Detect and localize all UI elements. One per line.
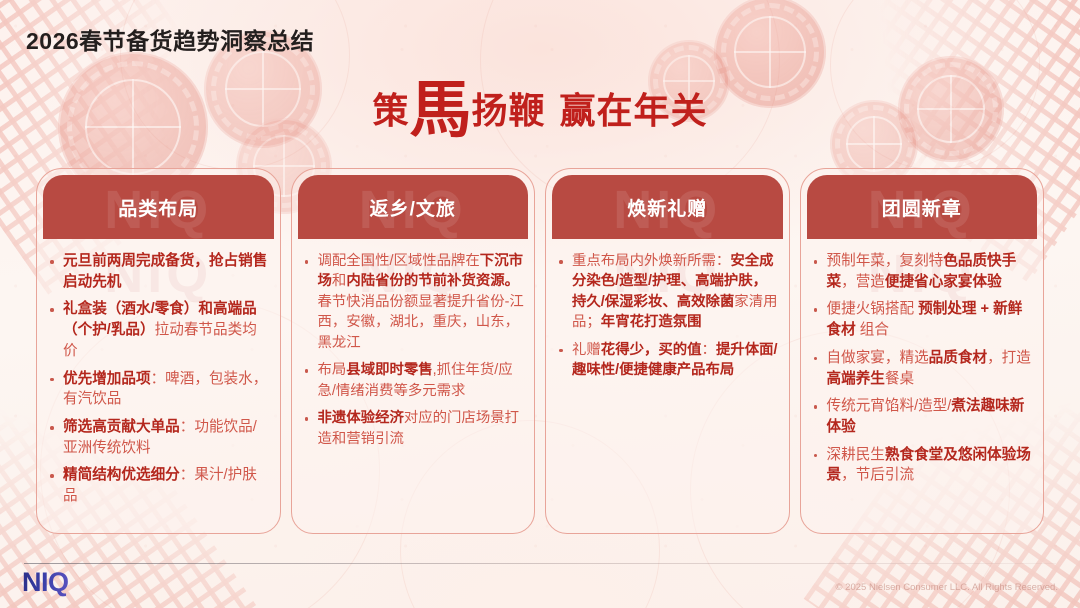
card-body: NIQ 重点布局内外焕新所需：安全成分染色/造型/护理、高端护肤，持久/保湿彩妆…	[546, 239, 789, 533]
card-title: 团圆新章	[882, 194, 962, 221]
bullet-text: 餐桌	[885, 371, 914, 387]
card-fanxiang-wenlv[interactable]: NIQ 返乡/文旅 NIQ 调配全国性/区域性品牌在下沉市场和内陆省份的节前补货…	[291, 168, 536, 534]
card-title: 焕新礼赠	[627, 194, 707, 221]
card-body: NIQ 预制年菜，复刻特色品质快手菜，营造便捷省心家宴体验便捷火锅搭配 预制处理…	[801, 239, 1044, 533]
card-pinlei-buju[interactable]: NIQ 品类布局 NIQ 元旦前两周完成备货，抢占销售启动先机礼盒装（酒水/零食…	[36, 168, 281, 534]
bullet-text: ，节后引流	[841, 467, 914, 483]
bullet-emphasis: 筛选高贡献大单品	[63, 419, 180, 435]
bullet-emphasis: 高端养生	[827, 371, 885, 387]
card-huanxin-lizeng[interactable]: NIQ 焕新礼赠 NIQ 重点布局内外焕新所需：安全成分染色/造型/护理、高端护…	[545, 168, 790, 534]
card-header: NIQ 返乡/文旅	[298, 175, 529, 239]
niq-logo: NIQ	[22, 567, 69, 598]
bullet-text: 礼赠	[572, 342, 601, 358]
headline-big-char: 馬	[409, 76, 471, 145]
card-header: NIQ 团圆新章	[807, 175, 1038, 239]
bullet-text: 深耕民生	[827, 447, 885, 463]
bullet-emphasis: 优先增加品项	[63, 371, 151, 387]
bullet-text: 春节快消品份额显著提升省份-江西，安徽，湖北，重庆，山东，黑龙江	[318, 294, 524, 351]
card-body: NIQ 元旦前两周完成备货，抢占销售启动先机礼盒装（酒水/零食）和高端品（个护/…	[37, 239, 280, 533]
bullet-list: 预制年菜，复刻特色品质快手菜，营造便捷省心家宴体验便捷火锅搭配 预制处理 + 新…	[809, 251, 1034, 486]
bullet-list: 重点布局内外焕新所需：安全成分染色/造型/护理、高端护肤，持久/保湿彩妆、高效除…	[554, 251, 779, 381]
page-title: 2026春节备货趋势洞察总结	[26, 22, 314, 56]
bullet-text: 调配全国性/区域性品牌在	[318, 253, 480, 269]
bullet-emphasis: 便捷省心家宴体验	[885, 274, 1002, 290]
card-header: NIQ 焕新礼赠	[552, 175, 783, 239]
bullet-text: 组合	[856, 322, 889, 338]
bullet-emphasis: 品质食材	[929, 350, 987, 366]
headline: 策馬扬鞭赢在年关	[0, 72, 1080, 134]
bullet-item: 传统元宵馅料/造型/煮法趣味新体验	[809, 396, 1034, 437]
bullet-item: 礼盒装（酒水/零食）和高端品（个护/乳品）拉动春节品类均价	[45, 299, 270, 361]
bullet-list: 元旦前两周完成备货，抢占销售启动先机礼盒装（酒水/零食）和高端品（个护/乳品）拉…	[45, 251, 270, 507]
bullet-item: 精简结构优选细分：果汁/护肤品	[45, 465, 270, 506]
headline-part-1: 策	[372, 90, 409, 131]
bullet-emphasis: 元旦前两周完成备货，抢占销售启动先机	[63, 253, 267, 290]
bullet-item: 元旦前两周完成备货，抢占销售启动先机	[45, 251, 270, 292]
bullet-item: 调配全国性/区域性品牌在下沉市场和内陆省份的节前补货资源。春节快消品份额显著提升…	[300, 251, 525, 353]
bullet-item: 筛选高贡献大单品：功能饮品/亚洲传统饮料	[45, 417, 270, 458]
bullet-emphasis: 年宵花打造氛围	[601, 314, 702, 330]
card-tuanyuan-xinzhang[interactable]: NIQ 团圆新章 NIQ 预制年菜，复刻特色品质快手菜，营造便捷省心家宴体验便捷…	[800, 168, 1045, 534]
card-row: NIQ 品类布局 NIQ 元旦前两周完成备货，抢占销售启动先机礼盒装（酒水/零食…	[36, 168, 1044, 534]
slide-canvas: 2026春节备货趋势洞察总结 策馬扬鞭赢在年关 NIQ 品类布局 NIQ 元旦前…	[0, 0, 1080, 608]
bullet-item: 优先增加品项：啤酒，包装水，有汽饮品	[45, 369, 270, 410]
bullet-item: 非遗体验经济对应的门店场景打造和营销引流	[300, 408, 525, 449]
bullet-text: 传统元宵馅料/造型/	[827, 398, 952, 414]
bullet-text: 预制年菜，复刻特	[827, 253, 944, 269]
bullet-emphasis: 精简结构优选细分	[63, 467, 180, 483]
bullet-emphasis: 花得少，买的值	[601, 342, 702, 358]
bullet-text: 布局	[318, 362, 347, 378]
card-body: NIQ 调配全国性/区域性品牌在下沉市场和内陆省份的节前补货资源。春节快消品份额…	[292, 239, 535, 533]
bullet-text: ，打造	[987, 350, 1031, 366]
bullet-item: 布局县域即时零售,抓住年货/应急/情绪消费等多元需求	[300, 360, 525, 401]
footer-divider	[24, 563, 1056, 564]
bullet-item: 重点布局内外焕新所需：安全成分染色/造型/护理、高端护肤，持久/保湿彩妆、高效除…	[554, 251, 779, 333]
headline-part-3: 赢在年关	[560, 90, 708, 131]
bullet-text: 重点布局内外焕新所需：	[572, 253, 730, 269]
bullet-item: 自做家宴，精选品质食材，打造高端养生餐桌	[809, 348, 1034, 389]
bullet-item: 深耕民生熟食食堂及悠闲体验场景，节后引流	[809, 445, 1034, 486]
bullet-item: 预制年菜，复刻特色品质快手菜，营造便捷省心家宴体验	[809, 251, 1034, 292]
bullet-item: 便捷火锅搭配 预制处理 + 新鲜食材 组合	[809, 299, 1034, 340]
bullet-list: 调配全国性/区域性品牌在下沉市场和内陆省份的节前补货资源。春节快消品份额显著提升…	[300, 251, 525, 449]
bullet-text: 自做家宴，精选	[827, 350, 929, 366]
bullet-item: 礼赠花得少，买的值：提升体面/趣味性/便捷健康产品布局	[554, 340, 779, 381]
bullet-text: ，营造	[841, 274, 885, 290]
copyright-text: © 2025 Nielsen Consumer LLC. All Rights …	[836, 582, 1058, 593]
card-title: 返乡/文旅	[370, 194, 456, 221]
bullet-emphasis: 非遗体验经济	[318, 410, 404, 426]
bullet-text: 和	[332, 273, 346, 289]
bullet-emphasis: 内陆省份的节前补货资源。	[346, 273, 519, 289]
bullet-text: 便捷火锅搭配	[827, 301, 919, 317]
card-header: NIQ 品类布局	[43, 175, 274, 239]
headline-part-2: 扬鞭	[472, 90, 546, 131]
bullet-emphasis: 县域即时零售	[346, 362, 432, 378]
bullet-text: ：	[702, 342, 716, 358]
card-title: 品类布局	[118, 194, 198, 221]
